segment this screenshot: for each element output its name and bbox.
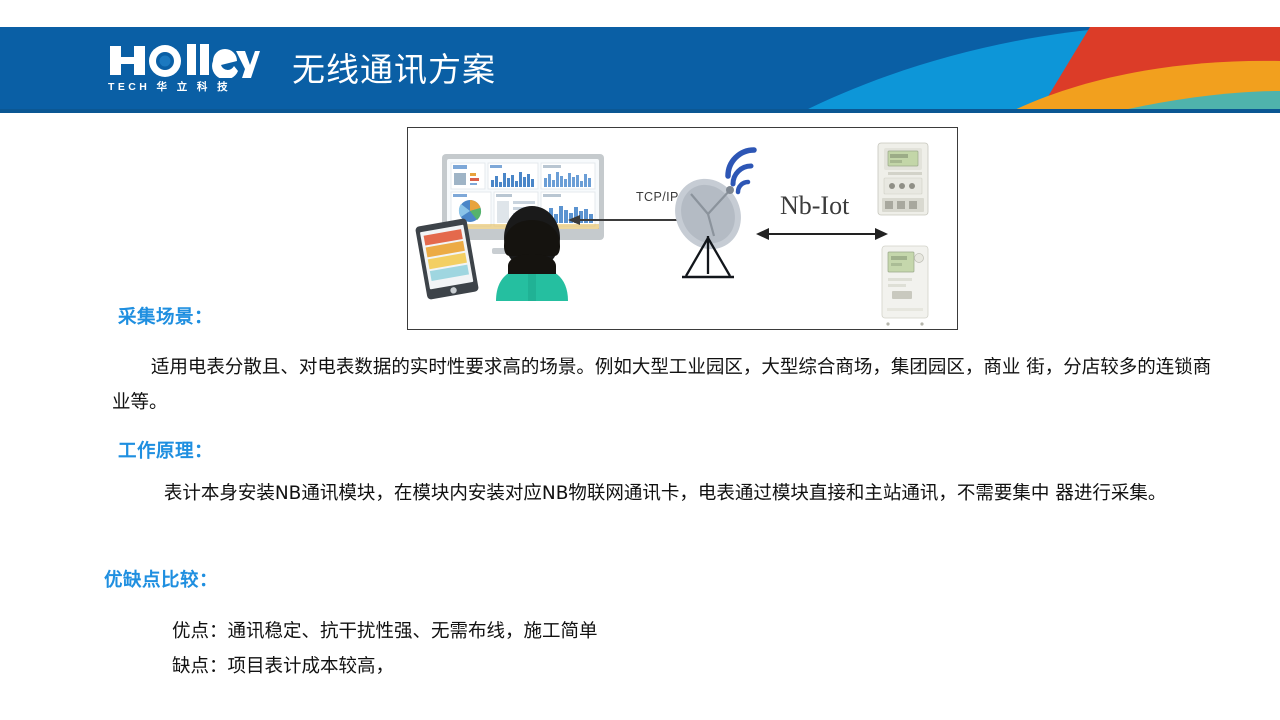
link-nbiot: Nb-Iot xyxy=(756,191,888,240)
network-topology-diagram: TCP/IP SSL Nb-Iot xyxy=(407,127,958,330)
brand-tagline: TECH 华 立 科 技 xyxy=(108,80,260,94)
header-decorative-swoosh xyxy=(790,27,1280,113)
smart-meter-top-icon xyxy=(878,143,928,215)
pros-line: 优点：通讯稳定、抗干扰性强、无需布线，施工简单 xyxy=(172,614,1212,649)
paragraph-line: 适用电表分散且、对电表数据的实时性要求高的场景。例如大型工业园区，大型综合商场，… xyxy=(112,357,1020,378)
cons-line: 缺点：项目表计成本较高， xyxy=(172,649,1212,684)
section-heading-pros-cons: 优缺点比较： xyxy=(104,566,218,592)
section-body-collection-scene: 适用电表分散且、对电表数据的实时性要求高的场景。例如大型工业园区，大型综合商场，… xyxy=(112,350,1218,420)
brand-wordmark-holley xyxy=(108,42,260,78)
paragraph-line: 器进行采集。 xyxy=(1055,483,1166,504)
header-underline xyxy=(0,109,1280,113)
brand-logo: TECH 华 立 科 技 xyxy=(108,42,260,98)
section-heading-working-principle: 工作原理： xyxy=(118,437,213,463)
page-title: 无线通讯方案 xyxy=(292,50,496,90)
section-body-pros-cons: 优点：通讯稳定、抗干扰性强、无需布线，施工简单 缺点：项目表计成本较高， xyxy=(172,614,1212,684)
smart-meter-bottom-icon xyxy=(882,246,928,326)
operator-workstation-icon xyxy=(415,154,604,301)
section-heading-collection-scene: 采集场景： xyxy=(118,303,213,329)
svg-text:Nb-Iot: Nb-Iot xyxy=(780,191,850,220)
paragraph-line: 表计本身安装NB通讯模块，在模块内安装对应NB物联网通讯卡，电表通过模块直接和主… xyxy=(125,483,1049,504)
section-body-working-principle: 表计本身安装NB通讯模块，在模块内安装对应NB物联网通讯卡，电表通过模块直接和主… xyxy=(125,476,1215,511)
satellite-dish-icon xyxy=(663,150,754,277)
